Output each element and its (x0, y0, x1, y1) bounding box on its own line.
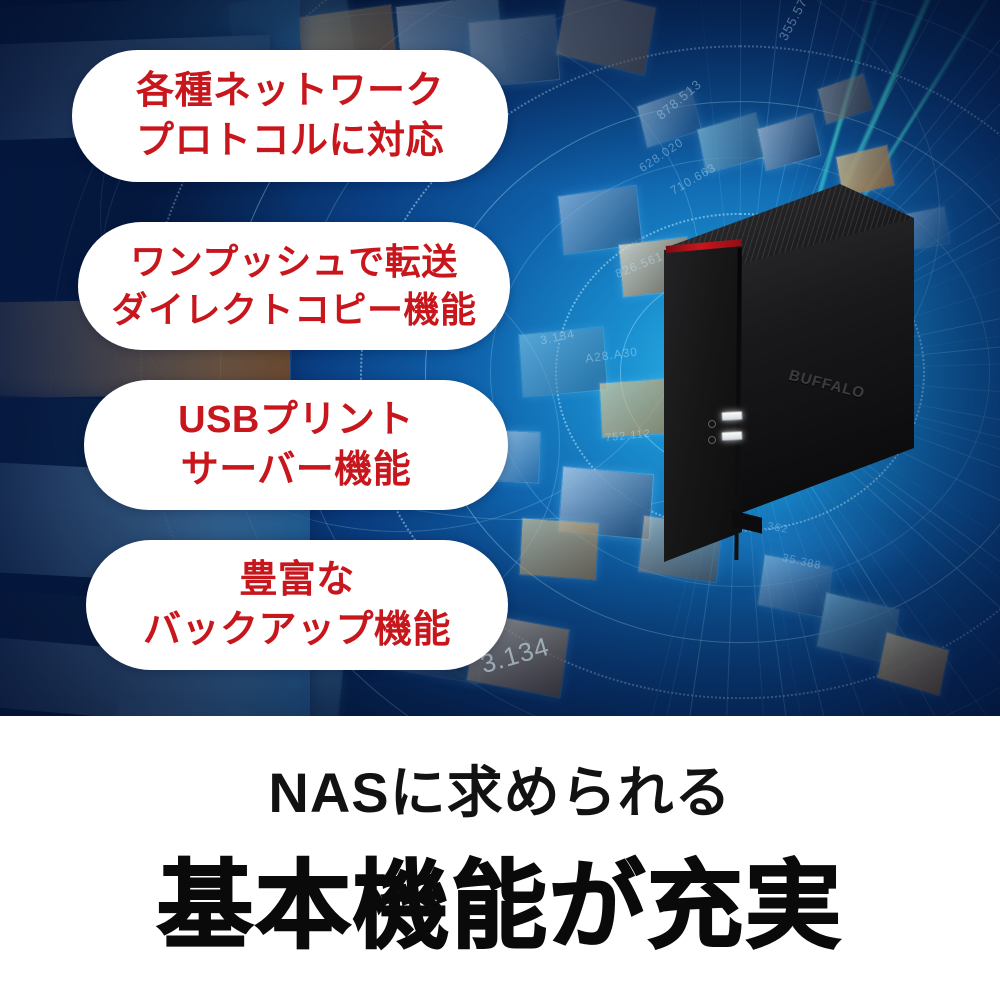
feature-pill-usb-print-server[interactable]: USBプリントサーバー機能 (84, 380, 508, 510)
pill-line-2: バックアップ機能 (143, 605, 451, 655)
pill-line-1: 各種ネットワーク (136, 66, 444, 116)
nas-front-bezel (664, 242, 742, 562)
nas-power-button (708, 420, 716, 428)
pill-line-2: ダイレクトコピー機能 (111, 286, 476, 334)
feature-pill-direct-copy[interactable]: ワンプッシュで転送ダイレクトコピー機能 (78, 222, 510, 350)
feature-pill-network-protocols[interactable]: 各種ネットワークプロトコルに対応 (72, 50, 508, 182)
nas-device: BUFFALO (636, 170, 936, 570)
pill-line-1: 豊富な (239, 555, 355, 605)
nas-led-indicator-top (722, 411, 742, 420)
nas-function-button (708, 436, 716, 444)
pill-line-2: プロトコルに対応 (136, 116, 444, 166)
pill-line-1: USBプリント (178, 395, 414, 445)
nas-led-indicator-bottom (722, 431, 742, 440)
caption-section: NASに求められる 基本機能が充実 (0, 716, 1000, 1001)
feature-pill-backup[interactable]: 豊富なバックアップ機能 (86, 540, 508, 670)
hero-banner: 355.577878.513628.020710.663826.5613.134… (0, 0, 1000, 716)
nas-side-panel (728, 218, 914, 518)
pill-line-1: ワンプッシュで転送 (130, 238, 457, 286)
caption-headline: 基本機能が充実 (0, 828, 1000, 967)
pill-line-2: サーバー機能 (181, 445, 412, 495)
caption-subtitle: NASに求められる (0, 748, 1000, 829)
